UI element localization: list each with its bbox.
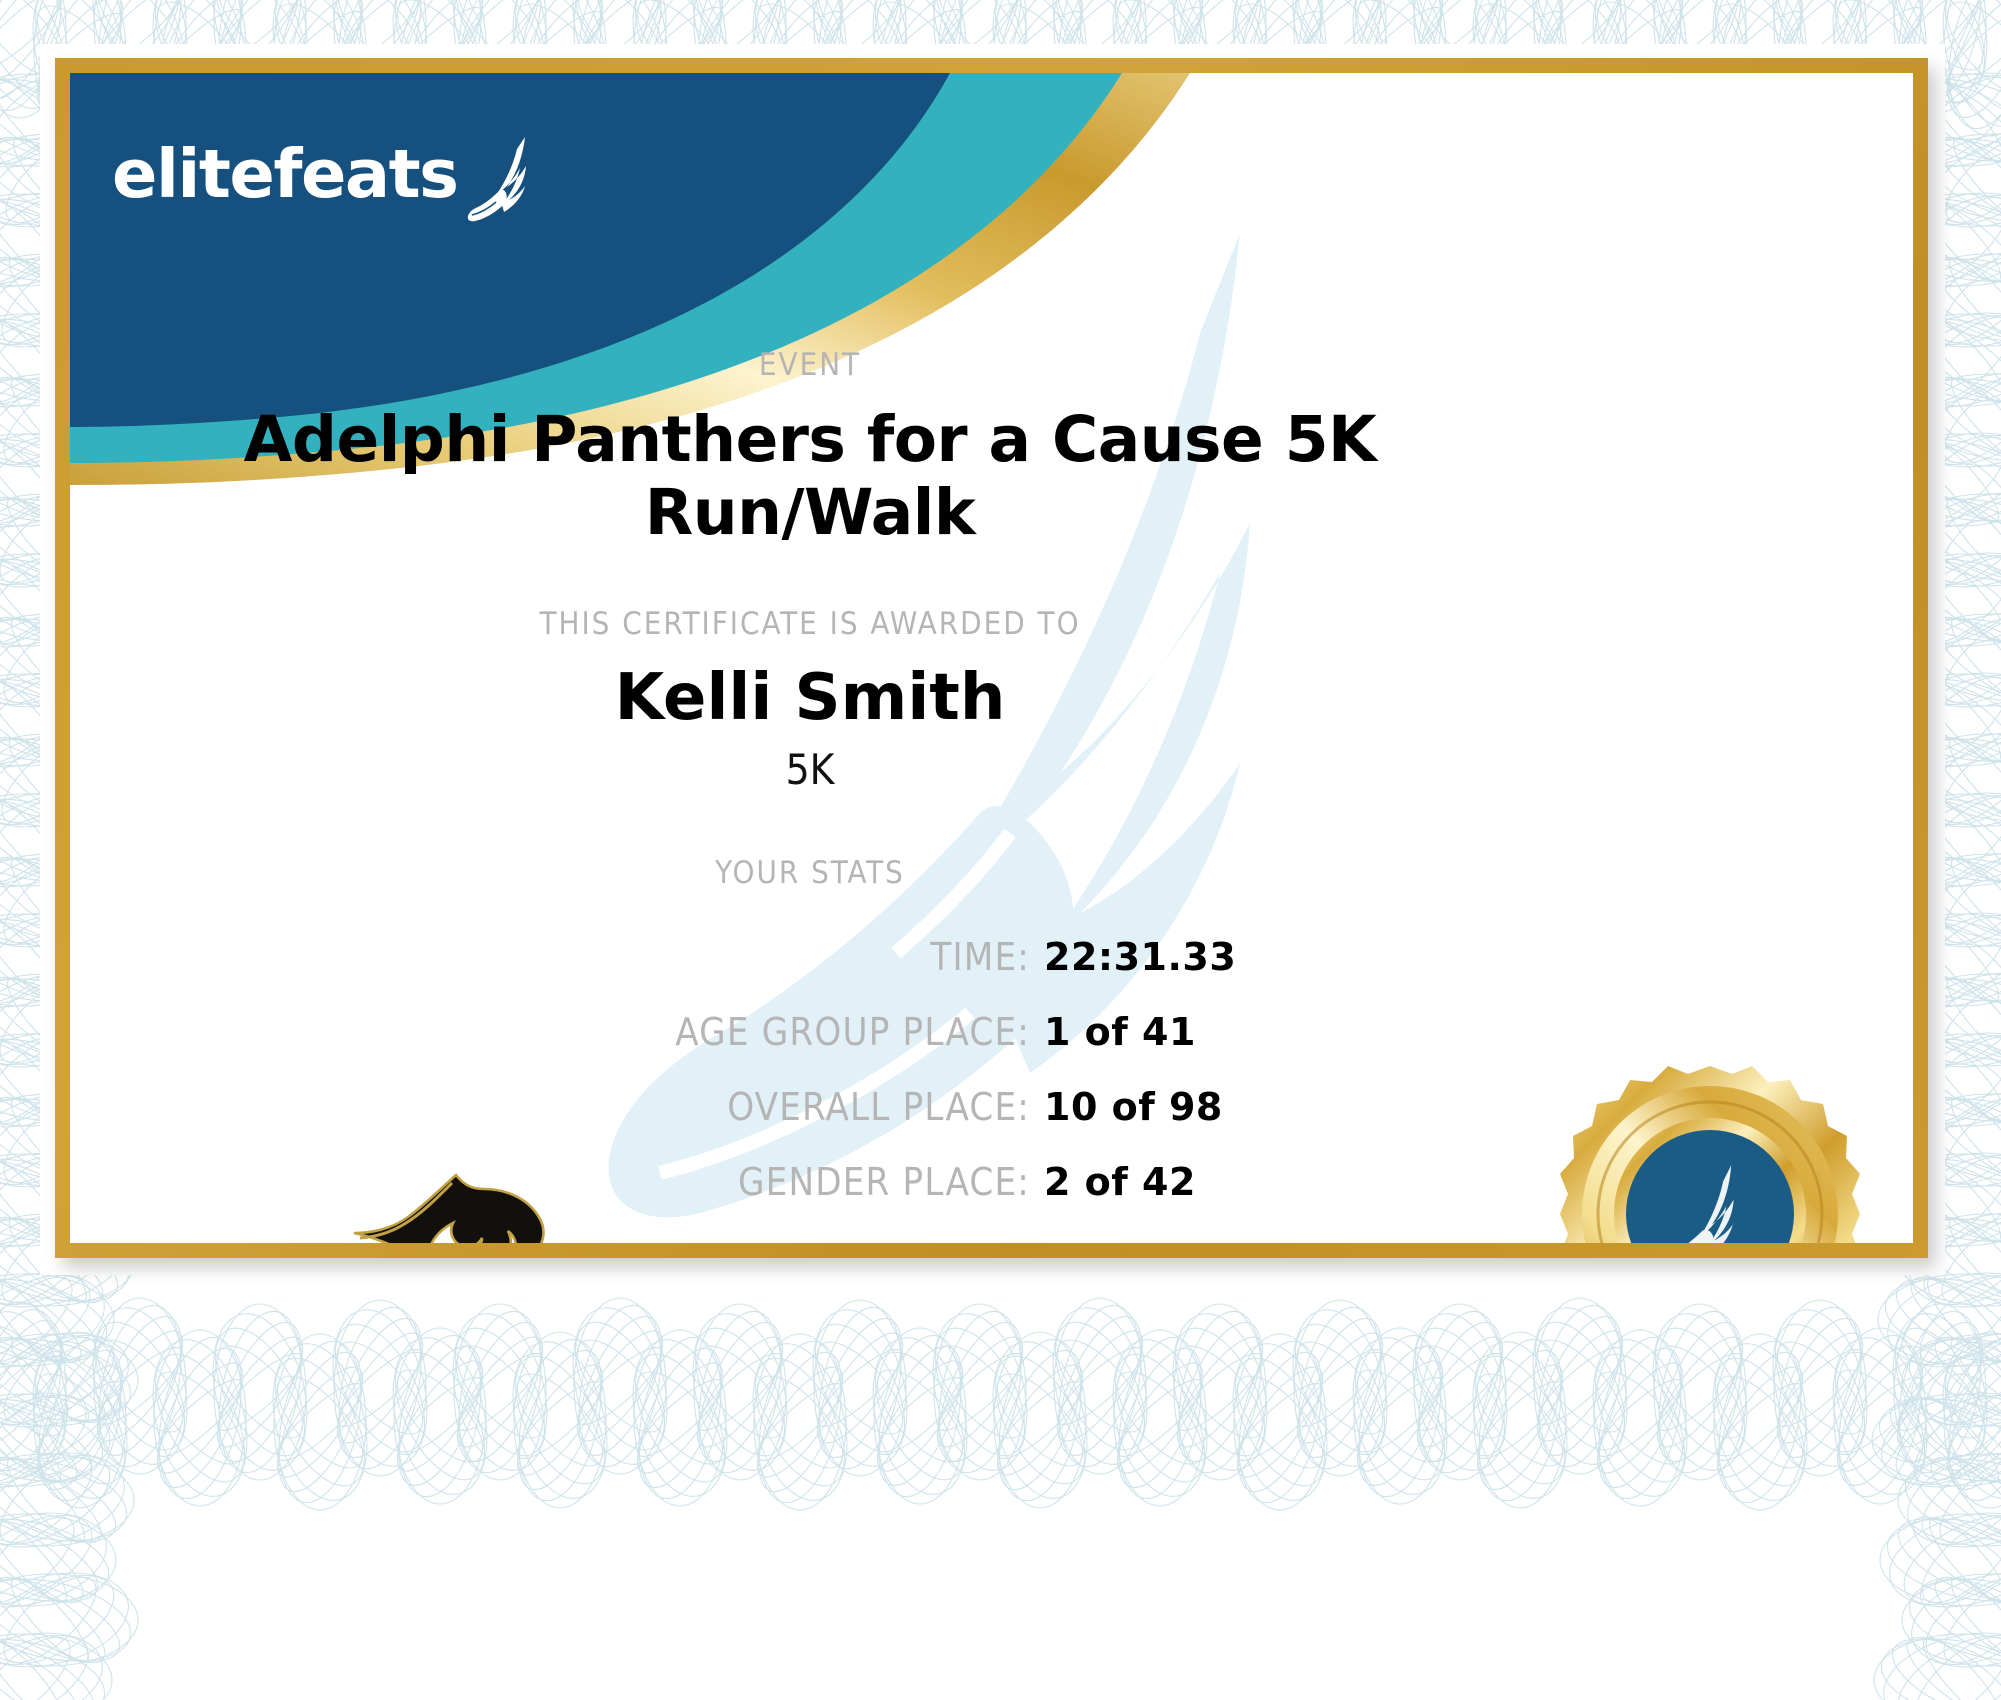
stat-key: TIME: [370,935,1030,979]
elitefeats-wordmark: elitefeats [112,141,458,208]
finisher-badge: 2025 FINISHER CERTIFICATE [1535,1066,1913,1243]
event-name: Adelphi Panthers for a Cause 5K Run/Walk [70,403,1550,549]
stat-value: 1 of 41 [1044,1010,1196,1054]
panther-head-icon [338,1167,568,1243]
medal-ribbon-graphic: 2025 [1535,1066,1895,1243]
stat-row-time: TIME: 22:31.33 [370,935,1380,999]
certificate-page: elitefeats EVENT Adelphi Pant [0,0,2001,1700]
stat-value: 2 of 42 [1044,1160,1196,1204]
recipient-distance: 5K [70,745,1550,794]
stat-row-overall-place: OVERALL PLACE: 10 of 98 [370,1085,1380,1149]
elitefeats-logo: elitefeats [112,141,542,223]
stat-row-age-group-place: AGE GROUP PLACE: 1 of 41 [370,1010,1380,1074]
stat-value: 10 of 98 [1044,1085,1223,1129]
stat-key: AGE GROUP PLACE: [370,1010,1030,1054]
recipient-name: Kelli Smith [70,661,1550,735]
certificate-content: EVENT Adelphi Panthers for a Cause 5K Ru… [70,73,1913,1243]
certificate-body: elitefeats EVENT Adelphi Pant [70,73,1913,1243]
winged-foot-icon [462,135,542,223]
adelphi-logo: ADELPHI [210,1173,590,1243]
stat-key: OVERALL PLACE: [370,1085,1030,1129]
certificate-gold-frame: elitefeats EVENT Adelphi Pant [55,58,1928,1258]
awarded-to-label: THIS CERTIFICATE IS AWARDED TO [70,606,1550,642]
stat-value: 22:31.33 [1044,935,1236,979]
event-label: EVENT [70,347,1550,383]
your-stats-label: YOUR STATS [70,855,1550,891]
